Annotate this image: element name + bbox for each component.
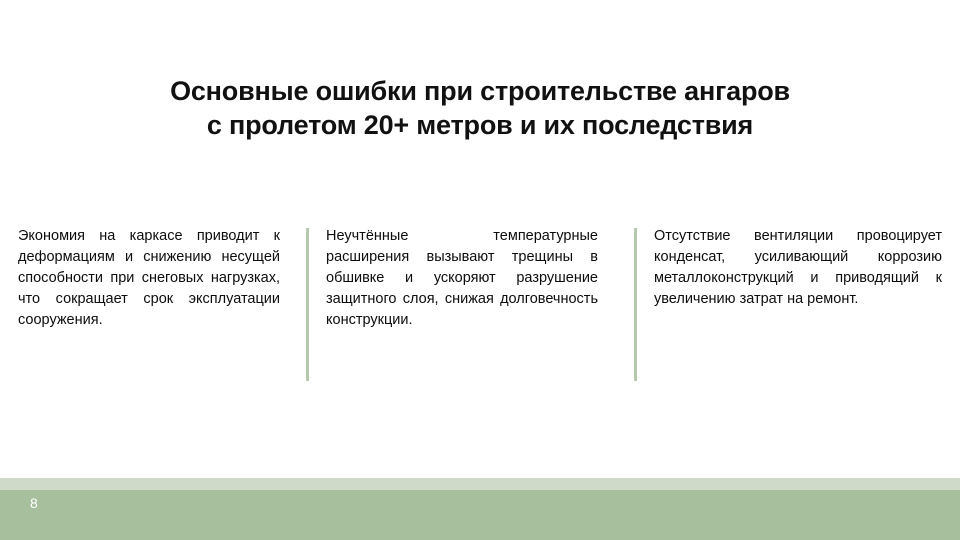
page-number: 8 <box>30 493 38 513</box>
footer-band-dark <box>0 490 960 540</box>
title-line-2: с пролетом 20+ метров и их последствия <box>60 108 900 142</box>
content-column-3: Отсутствие вентиляции провоцирует конден… <box>654 226 942 310</box>
title-line-1: Основные ошибки при строительстве ангаро… <box>60 74 900 108</box>
content-column-2: Неучтённые температурные расширения вызы… <box>326 226 598 331</box>
slide: Основные ошибки при строительстве ангаро… <box>0 0 960 540</box>
content-column-1: Экономия на каркасе приводит к деформаци… <box>18 226 280 331</box>
column-2-text: Неучтённые температурные расширения вызы… <box>326 226 598 331</box>
column-divider-1 <box>306 228 309 381</box>
column-3-text: Отсутствие вентиляции провоцирует конден… <box>654 226 942 310</box>
footer-band-light <box>0 478 960 490</box>
page-title: Основные ошибки при строительстве ангаро… <box>60 74 900 142</box>
column-1-text: Экономия на каркасе приводит к деформаци… <box>18 226 280 331</box>
column-divider-2 <box>634 228 637 381</box>
content-columns: Экономия на каркасе приводит к деформаци… <box>0 226 960 386</box>
